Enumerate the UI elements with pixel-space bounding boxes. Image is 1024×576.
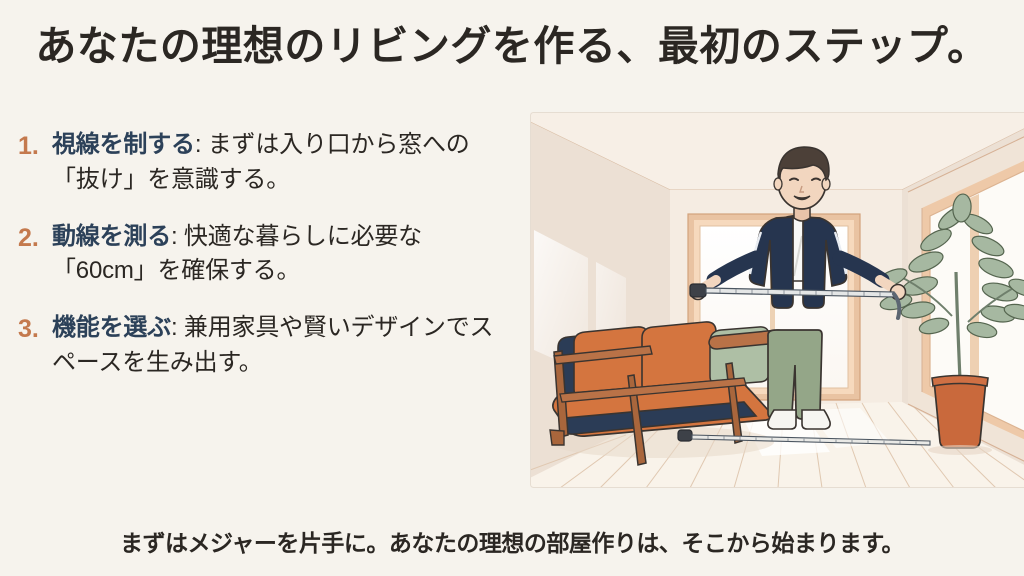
shoe-right (802, 410, 830, 429)
footer-caption: まずはメジャーを片手に。あなたの理想の部屋作りは、そこから始まります。 (0, 524, 1024, 558)
steps-list: 1. 視線を制する: まずは入り口から窓への「抜け」を意識する。 2. 動線を測… (10, 128, 510, 403)
step-number: 2. (10, 220, 52, 256)
tape-case-floor (678, 430, 692, 441)
step-body: 視線を制する: まずは入り口から窓への「抜け」を意識する。 (52, 128, 510, 198)
step-label: 動線を測る (52, 223, 171, 250)
tape-measure-case (690, 284, 706, 297)
sofa (550, 322, 786, 465)
step-body: 機能を選ぶ: 兼用家具や賢いデザインでスペースを生み出す。 (52, 311, 510, 381)
living-room-illustration-svg (530, 112, 1024, 488)
step-number: 3. (10, 311, 52, 347)
list-item: 3. 機能を選ぶ: 兼用家具や賢いデザインでスペースを生み出す。 (10, 311, 510, 381)
step-body: 動線を測る: 快適な暮らしに必要な「60cm」を確保する。 (52, 220, 510, 290)
page-title: あなたの理想のリビングを作る、最初のステップ。 (0, 22, 1024, 71)
living-room-illustration (530, 112, 1024, 488)
list-item: 2. 動線を測る: 快適な暮らしに必要な「60cm」を確保する。 (10, 220, 510, 290)
pants (768, 330, 822, 419)
step-label: 機能を選ぶ (52, 314, 171, 341)
step-label: 視線を制する (52, 131, 195, 158)
shoe-left (768, 410, 796, 429)
ear-left (774, 178, 782, 190)
step-number: 1. (10, 128, 52, 164)
sofa-leg-back-left (550, 430, 564, 445)
plant-shadow (928, 445, 992, 455)
list-item: 1. 視線を制する: まずは入り口から窓への「抜け」を意識する。 (10, 128, 510, 198)
plant-pot (934, 380, 986, 448)
